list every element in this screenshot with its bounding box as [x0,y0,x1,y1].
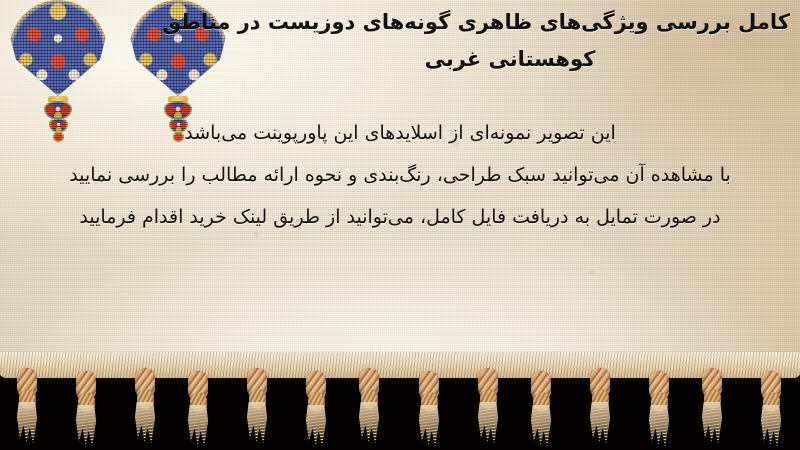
fringe-tassel [132,368,158,444]
fringe-tassel [416,371,442,447]
fringe-threads [477,402,499,444]
fringe-tassel [528,371,554,447]
carpet-selvedge-edge [0,352,800,378]
fringe-threads [134,402,156,444]
fringe-threads [75,405,97,447]
body-line-1: این تصویر نمونه‌ای از اسلایدهای این پاور… [0,112,800,154]
fringe-tassel [244,368,270,444]
fringe-tassel [14,368,40,444]
carpet-fringe-tassels [0,352,800,450]
body-line-3: در صورت تمایل به دریافت فایل کامل، می‌تو… [0,196,800,238]
slide-title: کامل بررسی ویژگی‌های ظاهری گونه‌های دوزی… [230,4,790,78]
fringe-tassel [73,371,99,447]
fringe-tassel [303,371,329,447]
slide-body-text: این تصویر نمونه‌ای از اسلایدهای این پاور… [0,112,800,238]
fringe-threads [648,405,670,447]
fringe-tassel [185,371,211,447]
fringe-threads [760,405,782,447]
body-line-2: با مشاهده آن می‌توانید سبک طراحی، رنگ‌بن… [0,154,800,196]
slide-title-line-1: کامل بررسی ویژگی‌های ظاهری گونه‌های دوزی… [230,4,790,41]
fringe-tassel [587,368,613,444]
fringe-threads [418,405,440,447]
fringe-tassel [646,371,672,447]
fringe-tassel [699,368,725,444]
fringe-tassel [475,368,501,444]
fringe-tassel [758,371,784,447]
fringe-threads [16,402,38,444]
fringe-threads [246,402,268,444]
slide-title-line-2: کوهستانی غربی [230,41,790,78]
fringe-threads [358,402,380,444]
fringe-threads [530,405,552,447]
fringe-tassel [356,368,382,444]
fringe-threads [589,402,611,444]
fringe-threads [187,405,209,447]
powerpoint-slide: کامل بررسی ویژگی‌های ظاهری گونه‌های دوزی… [0,0,800,450]
fringe-threads [305,405,327,447]
fringe-threads [701,402,723,444]
